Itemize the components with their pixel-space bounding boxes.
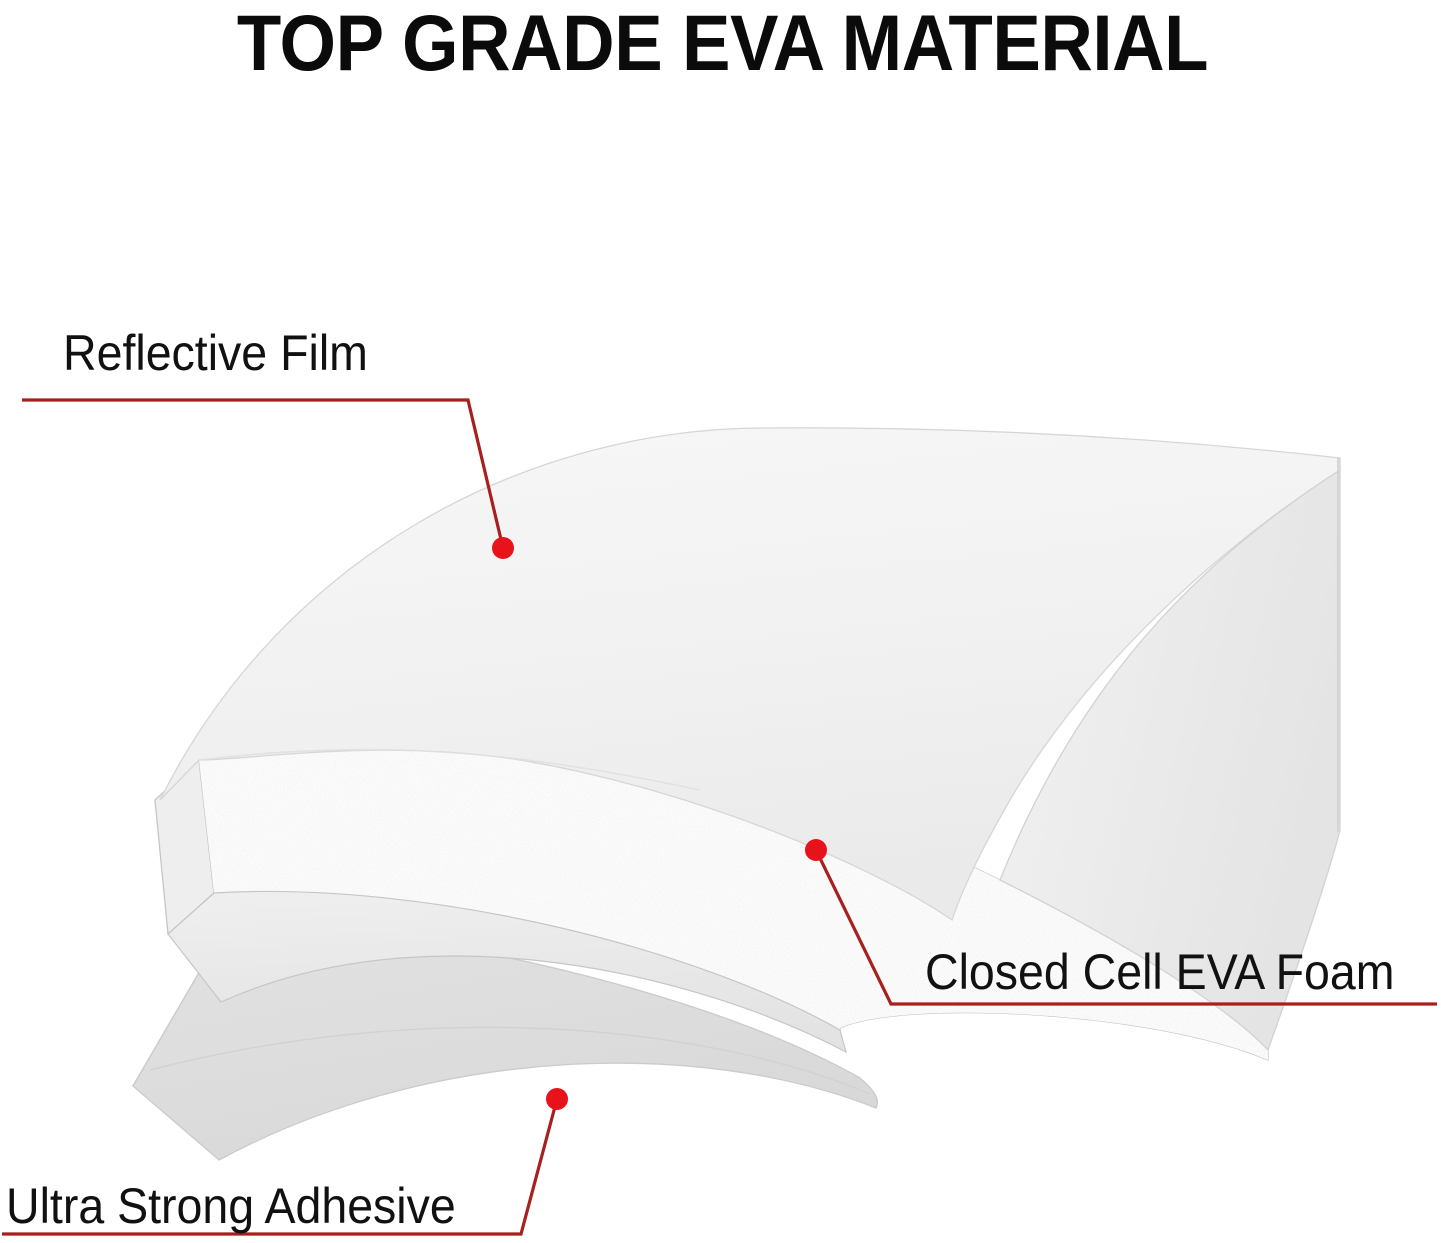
callout-label-reflective-film: Reflective Film xyxy=(63,325,368,381)
marker-dot-reflective-film xyxy=(492,537,514,559)
callout-label-closed-cell-eva-foam: Closed Cell EVA Foam xyxy=(925,944,1395,1000)
marker-dot-ultra-strong-adhesive xyxy=(546,1088,568,1110)
marker-dot-closed-cell-foam xyxy=(805,839,827,861)
product-infographic: TOP GRADE EVA MATERIAL xyxy=(0,0,1445,1243)
callout-label-ultra-strong-adhesive: Ultra Strong Adhesive xyxy=(6,1178,456,1234)
eva-material-diagram xyxy=(0,0,1445,1243)
